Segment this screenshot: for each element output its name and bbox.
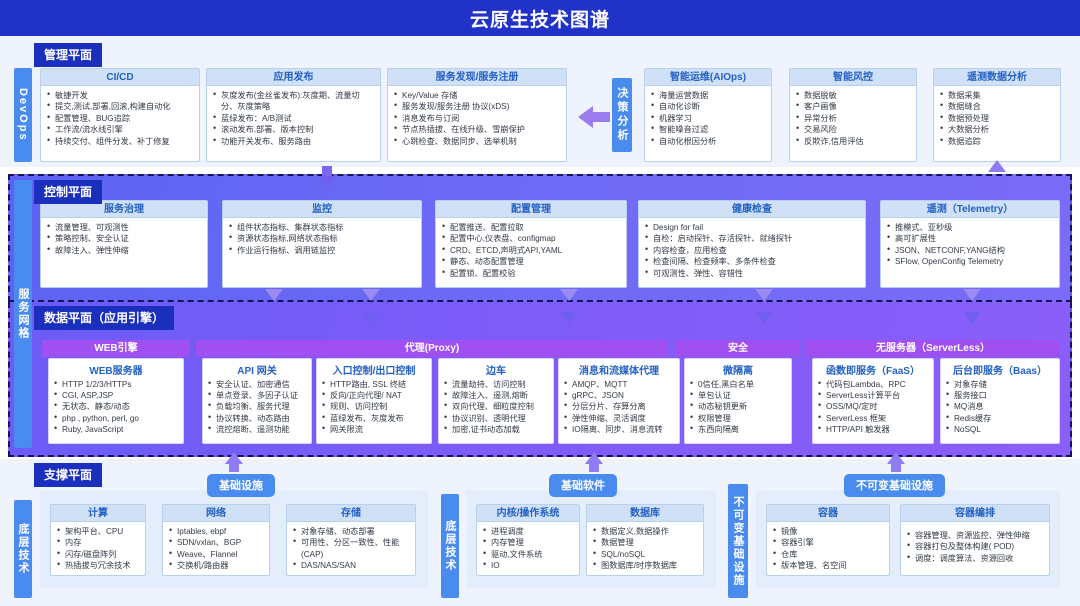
list-item: 大数据分析 [940,124,1055,135]
list-item: 数据脱敏 [796,90,911,101]
card-items: 数据脱敏 客户画像 异常分析 交易风险 反欺诈,信用评估 [796,90,911,147]
card-items: 流量劫持、访问控制 故障注入、遥测,熔断 双向代理、细粒度控制 协议识别、透明代… [444,379,549,435]
card-title: 消息和流媒体代理 [559,359,679,378]
list-item: DAS/NAS/SAN [293,560,410,571]
arrow-down-icon [755,289,773,301]
arrow-up-icon [585,452,603,464]
list-item: 内容检查，应用检查 [645,245,860,256]
list-item: OSS/MQ/定时 [818,401,929,412]
list-item: 海量运营数据 [651,90,766,101]
list-item: 流控熔断、遥测功能 [208,424,307,435]
group-header-serverless: 无服务器（ServerLess） [806,340,1060,357]
card-title: 网络 [163,505,269,522]
plane-label-data: 数据平面（应用引擎） [34,306,174,330]
list-item: 容器打包及整体构建( POD) [907,541,1044,552]
list-item: 权限管理 [690,413,787,424]
card-title: 后台即服务（Baas） [941,359,1059,378]
card-items: 安全认证、加密通信 单点登录、多因子认证 负载均衡、服务代理 协议转换、动态路由… [208,379,307,435]
card-title: 容器 [767,505,889,522]
arrow-down-icon [318,176,336,188]
card-intelligent-risk-control[interactable]: 智能风控 数据脱敏 客户画像 异常分析 交易风险 反欺诈,信用评估 [789,68,917,162]
group-header-security: 安全 [676,340,800,357]
page-title-bar: 云原生技术图谱 [0,0,1080,36]
card-items: 代码包Lambda、RPC ServerLess计算平台 OSS/MQ/定时 S… [818,379,929,435]
rail-service-mesh: 服务网格 [14,180,32,448]
card-items: Design for fail 自检：启动探针、存活探针、就绪探针 内容检查，应… [645,222,860,279]
group-header-web-engine: WEB引擎 [42,340,190,357]
arrow-stem-control [322,166,332,176]
list-item: 闪存/磁盘阵列 [57,549,140,560]
list-item: 异常分析 [796,113,911,124]
list-item: 配置中心,仪表盘、configmap [442,233,621,244]
card-title: 健康检查 [639,201,865,218]
card-items: AMQP、MQTT gRPC、JSON 分层分片、存算分离 弹性伸缩、灵活调度 … [564,379,675,435]
card-telemetry[interactable]: 遥测（Telemetry） 推模式、亚秒级 高可扩展性 JSON、NETCONF… [880,200,1060,288]
arrow-down-icon [362,289,380,301]
list-item: 加密,证书动态加载 [444,424,549,435]
card-sidecar[interactable]: 边车 流量劫持、访问控制 故障注入、遥测,熔断 双向代理、细粒度控制 协议识别、… [438,358,554,444]
list-item: 代码包Lambda、RPC [818,379,929,390]
list-item: 机器学习 [651,113,766,124]
list-item: 可用性、分区一致性、性能(CAP) [293,537,410,560]
list-item: IO [483,560,574,571]
list-item: 容器管理、资源监控、弹性伸缩 [907,530,1044,541]
list-item: 安全认证、加密通信 [208,379,307,390]
card-compute[interactable]: 计算 架构平台、CPU 内存 闪存/磁盘阵列 热插拔与冗余技术 [50,504,146,576]
list-item: 协议识别、透明代理 [444,413,549,424]
card-aiops[interactable]: 智能运维(AIOps) 海量运营数据 自动化诊断 机器学习 智能噪音过滤 自动化… [644,68,772,162]
list-item: 服务接口 [946,390,1055,401]
arrow-down-icon [265,289,283,301]
pill-base-software[interactable]: 基础软件 [549,474,617,497]
list-item: 策略控制、安全认证 [47,233,202,244]
card-container-orchestration[interactable]: 容器编排 容器管理、资源监控、弹性伸缩 容器打包及整体构建( POD) 调度：调… [900,504,1050,576]
list-item: 对象存储 [946,379,1055,390]
list-item: 自检：启动探针、存活探针、就绪探针 [645,233,860,244]
plane-label-support: 支撑平面 [34,463,102,487]
list-item: 数据追踪 [940,136,1055,147]
card-title: WEB服务器 [49,359,183,378]
list-item: HTTP 1/2/3/HTTPs [54,379,179,390]
card-items: HTTP 1/2/3/HTTPs CGI, ASP,JSP 无状态、静态/动态 … [54,379,179,435]
card-items: 数据采集 数据缝合 数据预处理 大数据分析 数据追踪 [940,90,1055,147]
list-item: 热插拔与冗余技术 [57,560,140,571]
card-title: 智能风控 [790,69,916,86]
list-item: ServerLess 框架 [818,413,929,424]
arrow-left-icon [578,106,593,128]
list-item: IO隔离、同步、消息流转 [564,424,675,435]
arrow-down-icon [963,289,981,301]
list-item: 客户画像 [796,101,911,112]
list-item: 故障注入、遥测,熔断 [444,390,549,401]
list-item: 敏捷开发 [47,90,194,101]
card-service-governance[interactable]: 服务治理 流量管理、可观测性 策略控制、安全认证 故障注入、弹性伸缩 [40,200,208,288]
list-item: 持续交付、组件分发、补丁修复 [47,136,194,147]
card-monitoring[interactable]: 监控 组件状态指标、集群状态指标 资源状态指标,网络状态指标 作业运行指标、调用… [222,200,422,288]
card-health-check[interactable]: 健康检查 Design for fail 自检：启动探针、存活探针、就绪探针 内… [638,200,866,288]
arrow-down-icon [362,312,380,324]
rail-decision-analysis: 决策分析 [612,78,632,152]
list-item: 无状态、静态/动态 [54,401,179,412]
list-item: HTTP/API 触发器 [818,424,929,435]
list-item: CGI, ASP,JSP [54,390,179,401]
list-item: ServerLess计算平台 [818,390,929,401]
list-item: 数据管理 [593,537,698,548]
card-items: 0信任,黑白名单 单包认证 动态秘钥更新 权限管理 东西向隔离 [690,379,787,435]
list-item: Redis缓存 [946,413,1055,424]
list-item: 动态秘钥更新 [690,401,787,412]
card-items: 对象存储、动态部署 可用性、分区一致性、性能(CAP) DAS/NAS/SAN [293,526,410,572]
list-item: 反欺诈,信用评估 [796,136,911,147]
list-item: 协议转换、动态路由 [208,413,307,424]
list-item: 配置推送、配置拉取 [442,222,621,233]
arrow-down-icon [755,312,773,324]
card-items: 对象存储 服务接口 MQ消息 Redis缓存 NoSQL [946,379,1055,435]
list-item: 配置锁、配置校验 [442,268,621,279]
list-item: AMQP、MQTT [564,379,675,390]
card-items: 镜像 容器引擎 仓库 版本管理、名空间 [773,526,884,572]
card-items: 容器管理、资源监控、弹性伸缩 容器打包及整体构建( POD) 调度：调度算法、资… [907,530,1044,564]
list-item: 镜像 [773,526,884,537]
arrow-down-icon [560,289,578,301]
card-app-release[interactable]: 应用发布 灰度发布(金丝雀发布):灰度期、流量切分、灰度策略 蓝绿发布：A/B测… [206,68,381,162]
card-title: 服务发现/服务注册 [388,69,566,86]
list-item: 内存管理 [483,537,574,548]
arrow-down-icon [560,312,578,324]
list-item: php , python, perl, go [54,413,179,424]
arrow-stem-decision [593,112,610,122]
list-item: 提交,测试,部署,回滚,构建自动化 [47,101,194,112]
list-item: 弹性伸缩、灵活调度 [564,413,675,424]
card-ci-cd[interactable]: CI/CD 敏捷开发 提交,测试,部署,回滚,构建自动化 配置管理、BUG追踪 … [40,68,200,162]
card-title: 配置管理 [436,201,626,218]
list-item: 仓库 [773,549,884,560]
list-item: 图数据库/时序数据库 [593,560,698,571]
arrow-up-icon [887,452,905,464]
list-item: 数据缝合 [940,101,1055,112]
card-title: 应用发布 [207,69,380,86]
card-title: 智能运维(AIOps) [645,69,771,86]
list-item: gRPC、JSON [564,390,675,401]
card-network[interactable]: 网络 Iptables, ebpf SDN/vxlan、BGP Weave、Fl… [162,504,270,576]
arrow-up-icon [988,160,1006,172]
card-items: 敏捷开发 提交,测试,部署,回滚,构建自动化 配置管理、BUG追踪 工作流/流水… [47,90,194,147]
page-title: 云原生技术图谱 [470,5,610,32]
list-item: 自动化根因分析 [651,136,766,147]
rail-immutable-infra: 不可变基础设施 [728,484,748,598]
pill-immutable-infra[interactable]: 不可变基础设施 [844,474,945,497]
card-items: HTTP路由, SSL 终结 反向/正向代理/ NAT 规则、访问控制 蓝绿发布… [322,379,427,435]
list-item: 单点登录、多因子认证 [208,390,307,401]
card-database[interactable]: 数据库 数据定义,数据操作 数据管理 SQL/noSQL 图数据库/时序数据库 [586,504,704,576]
list-item: 驱动,文件系统 [483,549,574,560]
card-baas[interactable]: 后台即服务（Baas） 对象存储 服务接口 MQ消息 Redis缓存 NoSQL [940,358,1060,444]
card-items: 推模式、亚秒级 高可扩展性 JSON、NETCONF,YANG结构 SFlow,… [887,222,1054,268]
list-item: 负载均衡、服务代理 [208,401,307,412]
list-item: 配置管理、BUG追踪 [47,113,194,124]
card-title: 容器编排 [901,505,1049,522]
list-item: 功能开关发布、服务路由 [213,136,375,147]
card-title: 存储 [287,505,415,522]
card-items: Iptables, ebpf SDN/vxlan、BGP Weave、Flann… [169,526,264,572]
card-items: Key/Value 存储 服务发现/服务注册 协议(xDS) 消息发布与订阅 节… [394,90,561,147]
list-item: 单包认证 [690,390,787,401]
list-item: 推模式、亚秒级 [887,222,1054,233]
list-item: 容器引擎 [773,537,884,548]
card-title: 遥测（Telemetry） [881,201,1059,218]
card-items: 配置推送、配置拉取 配置中心,仪表盘、configmap CRD、ETCD,声明… [442,222,621,279]
list-item: NoSQL [946,424,1055,435]
card-title: 微隔离 [685,359,791,378]
card-storage[interactable]: 存储 对象存储、动态部署 可用性、分区一致性、性能(CAP) DAS/NAS/S… [286,504,416,576]
list-item: 消息发布与订阅 [394,113,561,124]
arrow-up-icon [225,452,243,464]
card-title: 数据库 [587,505,703,522]
rail-base-tech-left: 底层技术 [14,500,32,598]
card-api-gateway[interactable]: API 网关 安全认证、加密通信 单点登录、多因子认证 负载均衡、服务代理 协议… [202,358,312,444]
card-items: 流量管理、可观测性 策略控制、安全认证 故障注入、弹性伸缩 [47,222,202,256]
list-item: JSON、NETCONF,YANG结构 [887,245,1054,256]
list-item: 工作流/流水线引擎 [47,124,194,135]
list-item: SFlow, OpenConfig Telemetry [887,256,1054,267]
list-item: 双向代理、细粒度控制 [444,401,549,412]
list-item: 蓝绿发布：A/B测试 [213,113,375,124]
list-item: HTTP路由, SSL 终结 [322,379,427,390]
list-item: 数据定义,数据操作 [593,526,698,537]
card-title: CI/CD [41,69,199,86]
list-item: Design for fail [645,222,860,233]
list-item: 网关限流 [322,424,427,435]
list-item: CRD、ETCD,声明式API,YAML [442,245,621,256]
list-item: 架构平台、CPU [57,526,140,537]
card-faas[interactable]: 函数即服务（FaaS） 代码包Lambda、RPC ServerLess计算平台… [812,358,934,444]
rail-devops: DevOps [14,68,32,162]
list-item: 故障注入、弹性伸缩 [47,245,202,256]
rail-base-tech-mid: 底层技术 [441,494,459,598]
card-title: 监控 [223,201,421,218]
list-item: 进程调度 [483,526,574,537]
card-web-server[interactable]: WEB服务器 HTTP 1/2/3/HTTPs CGI, ASP,JSP 无状态… [48,358,184,444]
list-item: 反向/正向代理/ NAT [322,390,427,401]
cloud-native-tech-atlas: 云原生技术图谱 管理平面 DevOps CI/CD 敏捷开发 提交,测试,部署,… [0,0,1080,606]
list-item: 自动化诊断 [651,101,766,112]
list-item: 数据预处理 [940,113,1055,124]
list-item: 东西向隔离 [690,424,787,435]
card-micro-isolation[interactable]: 微隔离 0信任,黑白名单 单包认证 动态秘钥更新 权限管理 东西向隔离 [684,358,792,444]
list-item: 可观测性、弹性、容错性 [645,268,860,279]
list-item: 检查间隔、检查频率、多条件检查 [645,256,860,267]
list-item: 高可扩展性 [887,233,1054,244]
card-items: 组件状态指标、集群状态指标 资源状态指标,网络状态指标 作业运行指标、调用链监控 [229,222,416,256]
list-item: 规则、访问控制 [322,401,427,412]
list-item: 数据采集 [940,90,1055,101]
list-item: 服务发现/服务注册 协议(xDS) [394,101,561,112]
card-kernel-os[interactable]: 内核/操作系统 进程调度 内存管理 驱动,文件系统 IO [476,504,580,576]
list-item: 内存 [57,537,140,548]
list-item: 滚动发布,部署、版本控制 [213,124,375,135]
list-item: 调度：调度算法、资源回收 [907,553,1044,564]
card-title: 函数即服务（FaaS） [813,359,933,378]
card-items: 海量运营数据 自动化诊断 机器学习 智能噪音过滤 自动化根因分析 [651,90,766,147]
list-item: 静态、动态配置管理 [442,256,621,267]
list-item: Iptables, ebpf [169,526,264,537]
list-item: 交易风险 [796,124,911,135]
list-item: 对象存储、动态部署 [293,526,410,537]
list-item: 作业运行指标、调用链监控 [229,245,416,256]
pill-infrastructure[interactable]: 基础设施 [207,474,275,497]
list-item: Key/Value 存储 [394,90,561,101]
list-item: 分层分片、存算分离 [564,401,675,412]
plane-label-management: 管理平面 [34,43,102,67]
list-item: 资源状态指标,网络状态指标 [229,233,416,244]
list-item: 0信任,黑白名单 [690,379,787,390]
list-item: 流量管理、可观测性 [47,222,202,233]
card-title: 入口控制/出口控制 [317,359,431,378]
card-title: 边车 [439,359,553,378]
list-item: 智能噪音过滤 [651,124,766,135]
plane-label-control: 控制平面 [34,180,102,204]
list-item: 蓝绿发布、灰度发布 [322,413,427,424]
list-item: 组件状态指标、集群状态指标 [229,222,416,233]
card-title: 内核/操作系统 [477,505,579,522]
list-item: 交换机/路由器 [169,560,264,571]
list-item: 灰度发布(金丝雀发布):灰度期、流量切分、灰度策略 [213,90,375,113]
card-title: 遥测数据分析 [934,69,1060,86]
card-title: 计算 [51,505,145,522]
card-telemetry-data-analysis[interactable]: 遥测数据分析 数据采集 数据缝合 数据预处理 大数据分析 数据追踪 [933,68,1061,162]
list-item: Ruby, JavaScript [54,424,179,435]
list-item: 流量劫持、访问控制 [444,379,549,390]
list-item: MQ消息 [946,401,1055,412]
group-header-proxy: 代理(Proxy) [196,340,668,357]
list-item: 节点热插拔、在线升级、雪崩保护 [394,124,561,135]
card-ingress-egress-control[interactable]: 入口控制/出口控制 HTTP路由, SSL 终结 反向/正向代理/ NAT 规则… [316,358,432,444]
list-item: SQL/noSQL [593,549,698,560]
list-item: Weave、Flannel [169,549,264,560]
arrow-down-icon [963,312,981,324]
card-title: API 网关 [203,359,311,378]
card-items: 数据定义,数据操作 数据管理 SQL/noSQL 图数据库/时序数据库 [593,526,698,572]
card-items: 灰度发布(金丝雀发布):灰度期、流量切分、灰度策略 蓝绿发布：A/B测试 滚动发… [213,90,375,147]
card-message-stream-proxy[interactable]: 消息和流媒体代理 AMQP、MQTT gRPC、JSON 分层分片、存算分离 弹… [558,358,680,444]
card-items: 架构平台、CPU 内存 闪存/磁盘阵列 热插拔与冗余技术 [57,526,140,572]
card-config-management[interactable]: 配置管理 配置推送、配置拉取 配置中心,仪表盘、configmap CRD、ET… [435,200,627,288]
list-item: 版本管理、名空间 [773,560,884,571]
card-service-discovery[interactable]: 服务发现/服务注册 Key/Value 存储 服务发现/服务注册 协议(xDS)… [387,68,567,162]
card-items: 进程调度 内存管理 驱动,文件系统 IO [483,526,574,572]
card-container[interactable]: 容器 镜像 容器引擎 仓库 版本管理、名空间 [766,504,890,576]
list-item: 心跳检查、数据同步、选举机制 [394,136,561,147]
list-item: SDN/vxlan、BGP [169,537,264,548]
